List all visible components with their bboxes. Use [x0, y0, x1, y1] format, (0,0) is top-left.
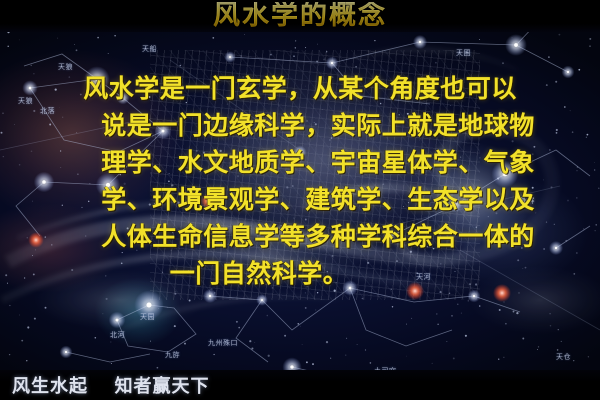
body-line-1: 风水学是一门玄学，从某个角度也可以 [0, 70, 600, 107]
footer-right-phrase: 知者赢天下 [115, 376, 210, 397]
body-line-2: 说是一门边缘科学，实际上就是地球物 [0, 107, 600, 144]
body-line-4: 学、环境景观学、建筑学、生态学以及 [0, 181, 600, 218]
body-paragraph: 风水学是一门玄学，从某个角度也可以 说是一门边缘科学，实际上就是地球物 理学、水… [0, 70, 600, 292]
footer-left-phrase: 风生水起 [12, 376, 88, 397]
body-line-5: 人体生命信息学等多种学科综合一体的 [0, 218, 600, 255]
body-line-6: 一门自然科学。 [0, 255, 600, 292]
title-bar: 风水学的概念 [0, 0, 600, 32]
slide-canvas: 天狼天狼北落天船天囷外屏天园北河九斿九州殊口天河土司空天仓 风水学的概念 风水学… [0, 0, 600, 400]
footer-slogan: 风生水起 知者赢天下 [12, 372, 210, 398]
body-line-3: 理学、水文地质学、宇宙星体学、气象 [0, 144, 600, 181]
page-title: 风水学的概念 [213, 2, 387, 29]
footer-bar: 风生水起 知者赢天下 [0, 370, 600, 400]
